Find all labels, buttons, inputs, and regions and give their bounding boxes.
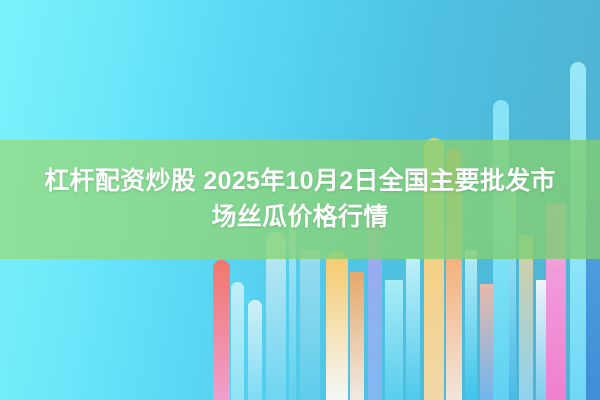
chart-bar-lower-segment [300, 259, 320, 400]
chart-bar-lower-segment [213, 260, 230, 400]
chart-bar-lower-segment [326, 259, 348, 400]
chart-bar-lower-segment [424, 259, 444, 400]
chart-bar-lower-segment [289, 259, 296, 400]
chart-bar-lower-segment [570, 259, 586, 400]
chart-bar-lower-segment [350, 272, 364, 400]
chart-bar-lower-segment [368, 259, 382, 400]
chart-bar-lower-segment [446, 259, 462, 400]
chart-bar-lower-segment [465, 259, 477, 400]
chart-bar-lower-segment [586, 259, 600, 400]
chart-bar-lower-segment [406, 259, 420, 400]
chart-bar-lower-segment [385, 280, 403, 400]
chart-bar-lower-segment [231, 282, 244, 400]
chart-bar-lower-segment [266, 259, 286, 400]
chart-bar-lower-segment [248, 300, 262, 400]
banner-image: 杠杆配资炒股 2025年10月2日全国主要批发市 场丝瓜价格行情 [0, 0, 600, 400]
bar-chart-foreground-layer [0, 0, 600, 400]
chart-bar-lower-segment [519, 259, 533, 400]
chart-bar-lower-segment [493, 259, 509, 400]
chart-bar-lower-segment [546, 259, 566, 400]
